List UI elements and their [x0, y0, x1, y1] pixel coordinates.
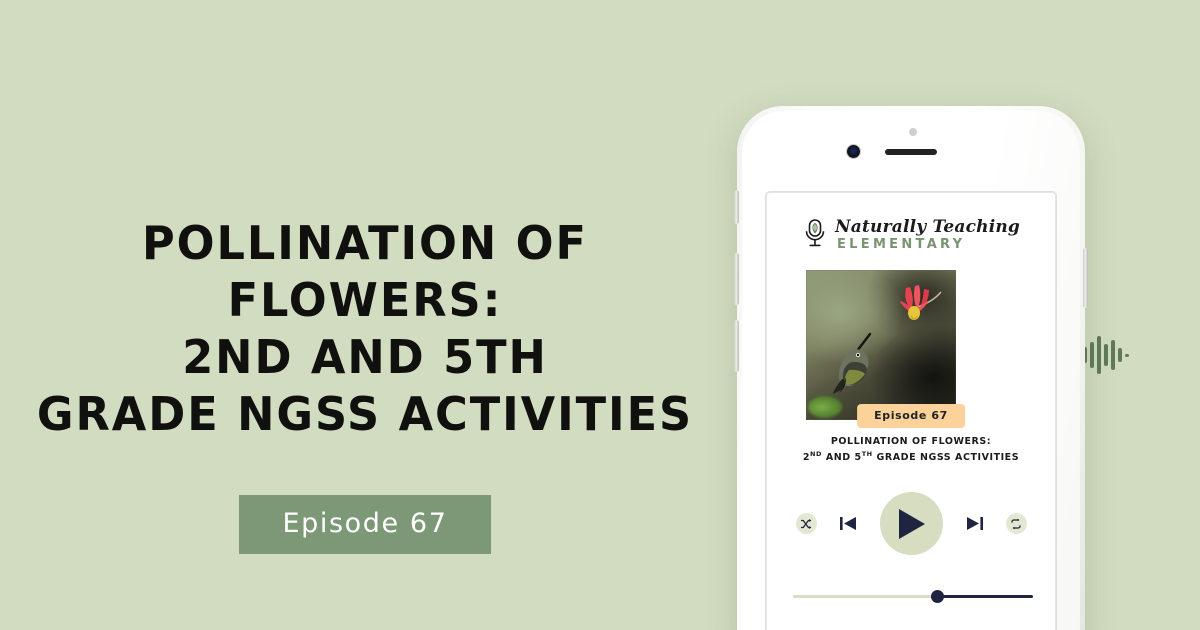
- front-camera-icon: [847, 145, 860, 158]
- volume-up-button[interactable]: [734, 253, 739, 305]
- logo-subtitle: ELEMENTARY: [835, 238, 1020, 251]
- promo-text-block: POLLINATION OF FLOWERS: 2ND AND 5TH GRAD…: [0, 215, 730, 554]
- repeat-button[interactable]: [1006, 513, 1027, 534]
- columbine-flower-icon: [884, 282, 942, 336]
- artwork-episode-badge: Episode 67: [857, 404, 965, 428]
- proximity-sensor-icon: [909, 128, 917, 136]
- episode-artwork: [806, 270, 956, 420]
- play-button[interactable]: [880, 492, 943, 555]
- artwork-leaf: [808, 396, 842, 418]
- skip-forward-icon: [963, 512, 986, 535]
- waveform-bar: [1125, 354, 1129, 357]
- next-button[interactable]: [963, 512, 986, 535]
- progress-remaining: [938, 595, 1033, 598]
- play-icon: [895, 507, 927, 541]
- skip-back-icon: [837, 512, 860, 535]
- episode-badge: Episode 67: [239, 495, 492, 554]
- previous-button[interactable]: [837, 512, 860, 535]
- page-title: POLLINATION OF FLOWERS: 2ND AND 5TH GRAD…: [11, 215, 719, 443]
- player-controls: [766, 492, 1056, 555]
- hummingbird-icon: [832, 332, 890, 394]
- waveform-bar: [1104, 344, 1108, 366]
- shuffle-button[interactable]: [796, 513, 817, 534]
- waveform-bar: [1090, 342, 1094, 368]
- silent-switch[interactable]: [734, 190, 739, 224]
- waveform-bar: [1118, 348, 1122, 362]
- shuffle-icon: [800, 518, 812, 530]
- volume-down-button[interactable]: [734, 320, 739, 372]
- waveform-bar: [1111, 340, 1115, 370]
- artwork-caption-line1: POLLINATION OF FLOWERS:: [766, 435, 1056, 448]
- artwork-caption: POLLINATION OF FLOWERS: 2ND AND 5TH GRAD…: [766, 435, 1056, 464]
- waveform-bar: [1097, 336, 1101, 374]
- progress-knob[interactable]: [931, 590, 944, 603]
- power-button[interactable]: [1083, 248, 1088, 308]
- microphone-leaf-icon: [802, 218, 828, 252]
- progress-elapsed: [793, 595, 938, 598]
- podcast-logo: Naturally Teaching ELEMENTARY: [766, 218, 1056, 252]
- repeat-icon: [1010, 518, 1022, 530]
- logo-script-name: Naturally Teaching: [835, 219, 1020, 236]
- logo-text: Naturally Teaching ELEMENTARY: [835, 219, 1020, 251]
- earpiece-speaker-icon: [885, 149, 937, 155]
- artwork-caption-line2: 2ND AND 5TH GRADE NGSS ACTIVITIES: [766, 448, 1056, 464]
- progress-bar[interactable]: [793, 588, 1033, 604]
- phone-screen: Naturally Teaching ELEMENTARY: [766, 192, 1056, 630]
- episode-badge-wrap: Episode 67: [0, 495, 730, 554]
- promo-canvas: POLLINATION OF FLOWERS: 2ND AND 5TH GRAD…: [0, 0, 1200, 630]
